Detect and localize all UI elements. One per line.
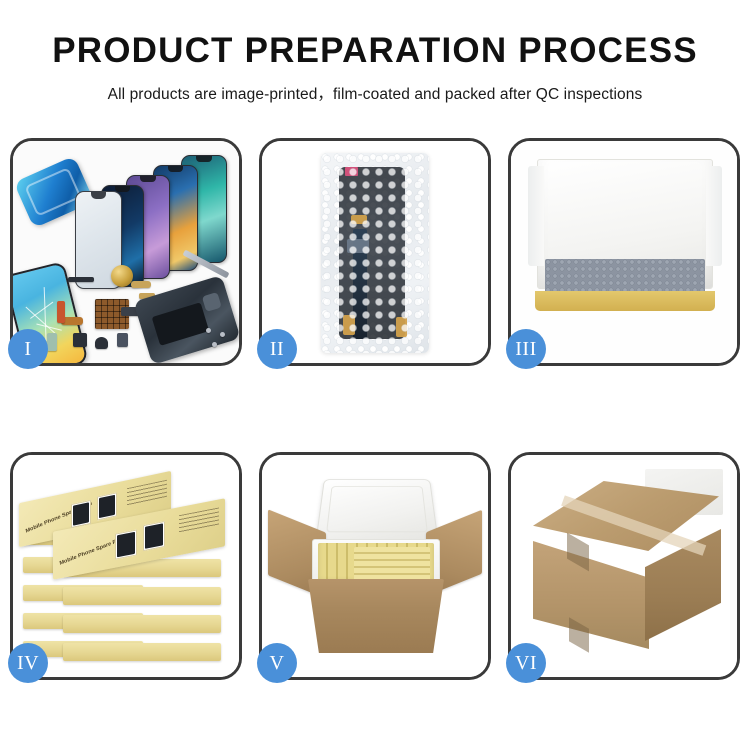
carton-body	[308, 579, 444, 653]
foam-lid	[315, 479, 438, 541]
lcd-assembly-icon	[339, 167, 405, 339]
step-panel-4[interactable]: Mobile Phone Spare Parts Mobile Phone Sp…	[10, 452, 242, 680]
step-image-4: Mobile Phone Spare Parts Mobile Phone Sp…	[13, 455, 239, 677]
box-front-panel	[535, 291, 715, 311]
stacked-box	[63, 615, 221, 633]
step-badge-4: IV	[8, 643, 48, 683]
parts-assortment-illustration	[13, 141, 239, 363]
step-image-2	[262, 141, 488, 363]
page-header: PRODUCT PREPARATION PROCESS All products…	[0, 0, 750, 104]
carton-loading-illustration	[262, 455, 488, 677]
step-panel-5[interactable]: V	[259, 452, 491, 680]
phone-backplate-icon	[133, 275, 239, 363]
ribbon-cable-icon	[57, 301, 65, 323]
connector-icon	[347, 239, 369, 253]
gold-flex-part-icon	[131, 281, 151, 288]
yellow-boxes-row	[354, 547, 430, 583]
step-badge-2: II	[257, 329, 297, 369]
step-badge-6: VI	[506, 643, 546, 683]
gold-coil-icon	[111, 265, 133, 287]
bubble-wrap-illustration	[262, 141, 488, 363]
foam-inner-box-illustration	[511, 141, 737, 363]
step-panel-6[interactable]: VI	[508, 452, 740, 680]
step-panel-2[interactable]: II	[259, 138, 491, 366]
step-badge-5: V	[257, 643, 297, 683]
carton-left-face	[533, 541, 649, 649]
speaker-part-icon	[95, 337, 108, 349]
gold-contact-icon	[351, 215, 367, 224]
step-panel-3[interactable]: III	[508, 138, 740, 366]
gold-contact-icon	[396, 317, 407, 337]
screw-icon	[206, 328, 211, 333]
page-subtitle: All products are image-printed，film-coat…	[0, 82, 750, 104]
connector-part-icon	[68, 277, 94, 282]
sealed-carton-illustration	[511, 455, 737, 677]
screw-icon	[212, 342, 217, 347]
step-image-6	[511, 455, 737, 677]
step-image-5	[262, 455, 488, 677]
stacked-box	[63, 643, 221, 661]
step-image-1	[13, 141, 239, 363]
step-image-3	[511, 141, 737, 363]
stacked-box	[63, 587, 221, 605]
page-title: PRODUCT PREPARATION PROCESS	[0, 32, 750, 71]
stacked-boxes-illustration: Mobile Phone Spare Parts Mobile Phone Sp…	[13, 455, 239, 677]
pink-tape-icon	[345, 167, 358, 176]
step-badge-1: I	[8, 329, 48, 369]
step-panel-1[interactable]: I	[10, 138, 242, 366]
sim-tray-icon	[47, 333, 57, 351]
button-part-icon	[117, 333, 128, 347]
gold-contact-icon	[343, 315, 355, 335]
gray-foam-padding	[545, 259, 705, 293]
screw-icon	[220, 332, 225, 337]
process-steps-grid: I II	[10, 138, 740, 680]
step-badge-3: III	[506, 329, 546, 369]
camera-module-icon	[73, 333, 87, 347]
bubble-wrap-bag	[321, 153, 429, 353]
